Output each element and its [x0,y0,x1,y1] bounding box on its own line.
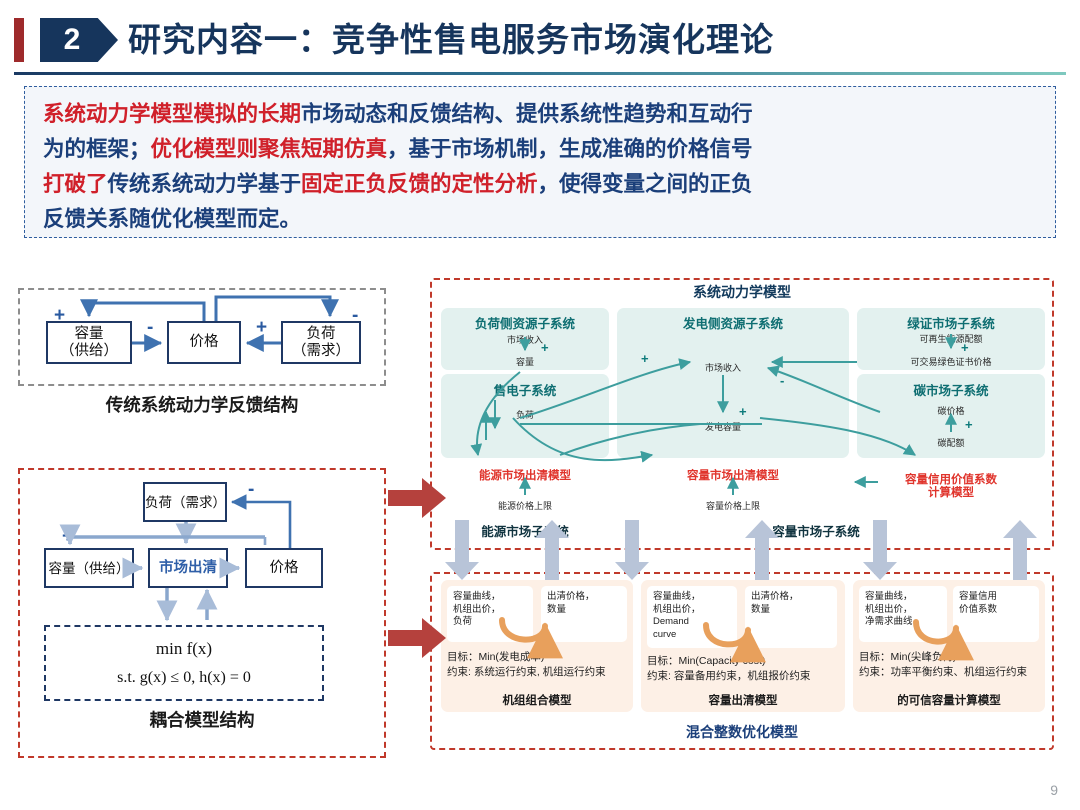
formula-constraint: s.t. g(x) ≤ 0, h(x) = 0 [46,669,322,687]
model-energy-clearing-title: 能源市场出清模型 [441,470,609,483]
var-demand-market-revenue: 市场收入 [441,333,609,346]
sign-minus-coupled: - [248,480,254,499]
node-capacity-supply-2: 容量（供给） [44,548,134,588]
node-capacity-supply: 容量 （供给） [46,321,132,364]
subsystem-capacity-market-label: 容量市场子系统 [700,521,932,540]
sign-plus-coupled: + [62,527,73,546]
summary-line-1-red: 系统动力学模型模拟的长期 [43,102,301,126]
summary-line-4: 反馈关系随优化模型而定。 [43,202,1039,237]
model-capacity-credit: 容量信用价值系数 计算模型 [857,463,1045,517]
panel-unit-commitment-outputs: 出清价格， 数量 [541,586,627,642]
var-gen-market-revenue: 市场收入 [663,361,783,374]
summary-line-3: 打破了传统系统动力学基于固定正负反馈的定性分析，使得变量之间的正负 [43,167,1039,202]
node-load-demand: 负荷 （需求） [281,321,361,364]
sign-plus-gen-revenue: + [641,352,649,365]
summary-line-3-blue-b: ，使得变量之间的正负 [538,172,753,196]
var-demand-capacity: 容量 [441,355,609,368]
var-gen-capacity: 发电容量 [663,420,783,433]
sign-plus-green: + [961,341,969,354]
sign-plus-load-price: + [256,318,267,337]
node-load-demand-label: 负荷 （需求） [292,326,350,360]
summary-line-2-blue-a: 为的框架； [43,137,151,161]
traditional-sd-caption: 传统系统动力学反馈结构 [18,392,386,417]
var-energy-price-cap: 能源价格上限 [441,499,609,512]
panel-credible-capacity: 容量曲线， 机组出价， 净需求曲线 容量信用 价值系数 目标：Min(尖峰负荷)… [853,580,1045,712]
panel-credible-capacity-constraint: 约束：功率平衡约束、机组运行约束 [859,665,1041,679]
subsystem-retail-title: 售电子系统 [441,380,609,399]
panel-unit-commitment: 容量曲线， 机组出价， 负荷 出清价格， 数量 目标：Min(发电成本) 约束:… [441,580,633,712]
panel-unit-commitment-constraint: 约束: 系统运行约束, 机组运行约束 [447,665,629,679]
model-capacity-credit-title: 容量信用价值系数 计算模型 [857,474,1045,500]
panel-capacity-clearing-name: 容量出清模型 [641,692,845,708]
node-capacity-supply-2-label: 容量（供给） [49,560,130,577]
model-capacity-clearing: 容量市场出清模型 容量价格上限 [617,463,849,517]
header-divider [14,72,1066,75]
sign-plus-demand: + [541,341,549,354]
summary-line-2-blue-b: ，基于市场机制，生成准确的价格信号 [387,137,753,161]
slide-header: 2 研究内容一：竞争性售电服务市场演化理论 [0,0,1080,78]
subsystem-carbon: 碳市场子系统 碳价格 碳配额 + [857,374,1045,458]
node-load-demand-2-label: 负荷（需求） [145,494,225,511]
summary-line-4-blue: 反馈关系随优化模型而定。 [43,207,301,231]
sign-minus-gen: - [780,374,784,387]
subsystem-generation-side-title: 发电侧资源子系统 [617,313,849,332]
panel-credible-capacity-name: 的可信容量计算模型 [853,692,1045,708]
node-market-clearing-label: 市场出清 [159,560,217,577]
node-market-clearing: 市场出清 [148,548,228,588]
panel-capacity-clearing-inputs: 容量曲线， 机组出价， Demand curve [647,586,737,648]
panel-unit-commitment-name: 机组组合模型 [441,692,633,708]
page-title: 研究内容一：竞争性售电服务市场演化理论 [128,18,774,62]
optimization-formula-box: min f(x) s.t. g(x) ≤ 0, h(x) = 0 [44,625,324,701]
panel-capacity-clearing-outputs: 出清价格， 数量 [745,586,837,648]
panel-credible-capacity-outputs: 容量信用 价值系数 [953,586,1039,642]
summary-line-1: 系统动力学模型模拟的长期市场动态和反馈结构、提供系统性趋势和互动行 [43,97,1039,132]
subsystem-energy-market-label: 能源市场子系统 [441,521,609,540]
model-capacity-clearing-title: 容量市场出清模型 [617,470,849,483]
var-renewable-quota: 可再生能源配额 [857,332,1045,345]
sign-plus-carbon: + [965,418,973,431]
var-carbon-quota: 碳配额 [857,436,1045,449]
sign-plus-capacity: + [54,306,65,325]
sign-minus-load: - [352,306,358,325]
subsystem-demand-side-title: 负荷侧资源子系统 [441,313,609,332]
panel-credible-capacity-objective: 目标：Min(尖峰负荷) [859,650,1041,664]
sign-plus-gen-capacity: + [739,405,747,418]
slide-root: 2 研究内容一：竞争性售电服务市场演化理论 系统动力学模型模拟的长期市场动态和反… [0,0,1080,810]
coupled-model-caption: 耦合模型结构 [18,707,386,732]
sign-minus-price-in: - [147,318,153,337]
node-load-demand-2: 负荷（需求） [143,482,227,522]
node-price-2: 价格 [245,548,323,588]
var-carbon-price: 碳价格 [857,404,1045,417]
var-green-certificate-price: 可交易绿色证书价格 [857,355,1045,368]
var-capacity-price-cap: 容量价格上限 [617,499,849,512]
sd-model-title: 系统动力学模型 [430,282,1054,302]
node-price-label: 价格 [190,334,219,351]
subsystem-carbon-title: 碳市场子系统 [857,380,1045,399]
summary-line-1-blue: 市场动态和反馈结构、提供系统性趋势和互动行 [301,102,753,126]
panel-capacity-clearing-constraint: 约束: 容量备用约束，机组报价约束 [647,669,841,683]
node-price: 价格 [167,321,241,364]
panel-unit-commitment-objective: 目标：Min(发电成本) [447,650,629,664]
page-number: 9 [1050,782,1058,798]
summary-callout: 系统动力学模型模拟的长期市场动态和反馈结构、提供系统性趋势和互动行 为的框架；优… [24,86,1056,238]
panel-credible-capacity-inputs: 容量曲线， 机组出价， 净需求曲线 [859,586,947,642]
node-price-2-label: 价格 [270,560,299,577]
var-retail-load: 负荷 [441,408,609,421]
header-section-badge: 2 [40,18,118,62]
model-energy-clearing: 能源市场出清模型 能源价格上限 [441,463,609,517]
panel-capacity-clearing-opt: 容量曲线， 机组出价， Demand curve 出清价格， 数量 目标：Min… [641,580,845,712]
summary-line-2-red: 优化模型则聚焦短期仿真 [151,137,388,161]
summary-line-3-blue-a: 传统系统动力学基于 [108,172,302,196]
panel-unit-commitment-inputs: 容量曲线， 机组出价， 负荷 [447,586,533,642]
formula-objective: min f(x) [46,639,322,659]
summary-line-2: 为的框架；优化模型则聚焦短期仿真，基于市场机制，生成准确的价格信号 [43,132,1039,167]
subsystem-green-certificate-title: 绿证市场子系统 [857,313,1045,332]
subsystem-demand-side: 负荷侧资源子系统 市场收入 容量 + [441,308,609,370]
summary-line-3-red-b: 固定正负反馈的定性分析 [301,172,538,196]
summary-line-3-red-a: 打破了 [43,172,108,196]
node-capacity-supply-label: 容量 （供给） [60,326,118,360]
optimization-title: 混合整数优化模型 [430,722,1054,742]
panel-capacity-clearing-objective: 目标：Min(Capacity cost) [647,654,841,668]
header-red-bar [14,18,24,62]
subsystem-retail: 售电子系统 负荷 [441,374,609,458]
subsystem-green-certificate: 绿证市场子系统 可再生能源配额 可交易绿色证书价格 + [857,308,1045,370]
subsystem-generation-side: 发电侧资源子系统 市场收入 发电容量 + + - [617,308,849,458]
